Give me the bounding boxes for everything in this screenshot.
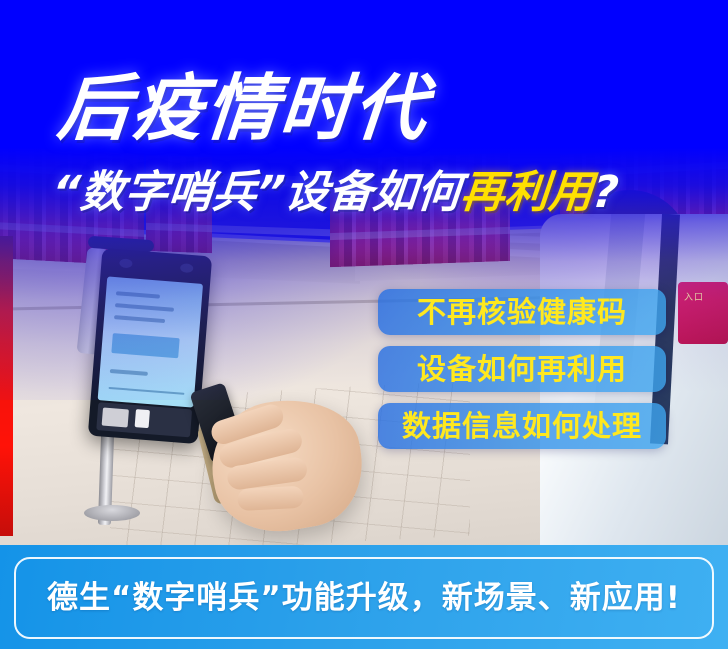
- pill-data-handling[interactable]: 数据信息如何处理: [378, 403, 666, 449]
- pill-device-reuse[interactable]: 设备如何再利用: [378, 346, 666, 392]
- bottom-banner: 德生“数字哨兵”功能升级，新场景、新应用!: [0, 545, 728, 649]
- pill-device-reuse-label: 设备如何再利用: [417, 355, 627, 384]
- promo-poster: 入口 后疫情时代 “数字哨兵”设备如何再利用? 不再核验健康码 设备如何再利用 …: [0, 0, 728, 649]
- subtitle-question-mark: ?: [591, 167, 621, 218]
- pill-health-code[interactable]: 不再核验健康码: [378, 289, 666, 335]
- pill-data-handling-label: 数据信息如何处理: [402, 412, 642, 441]
- pill-health-code-label: 不再核验健康码: [417, 298, 627, 327]
- poster-subtitle: “数字哨兵”设备如何再利用?: [50, 171, 620, 215]
- bottom-banner-frame: 德生“数字哨兵”功能升级，新场景、新应用!: [14, 557, 714, 639]
- subtitle-highlight: 再利用: [459, 167, 595, 218]
- poster-title: 后疫情时代: [55, 72, 431, 144]
- bottom-banner-text: 德生“数字哨兵”功能升级，新场景、新应用!: [47, 583, 681, 614]
- subtitle-lead: “数字哨兵”设备如何: [50, 167, 463, 218]
- topic-pill-list: 不再核验健康码 设备如何再利用 数据信息如何处理: [378, 289, 666, 460]
